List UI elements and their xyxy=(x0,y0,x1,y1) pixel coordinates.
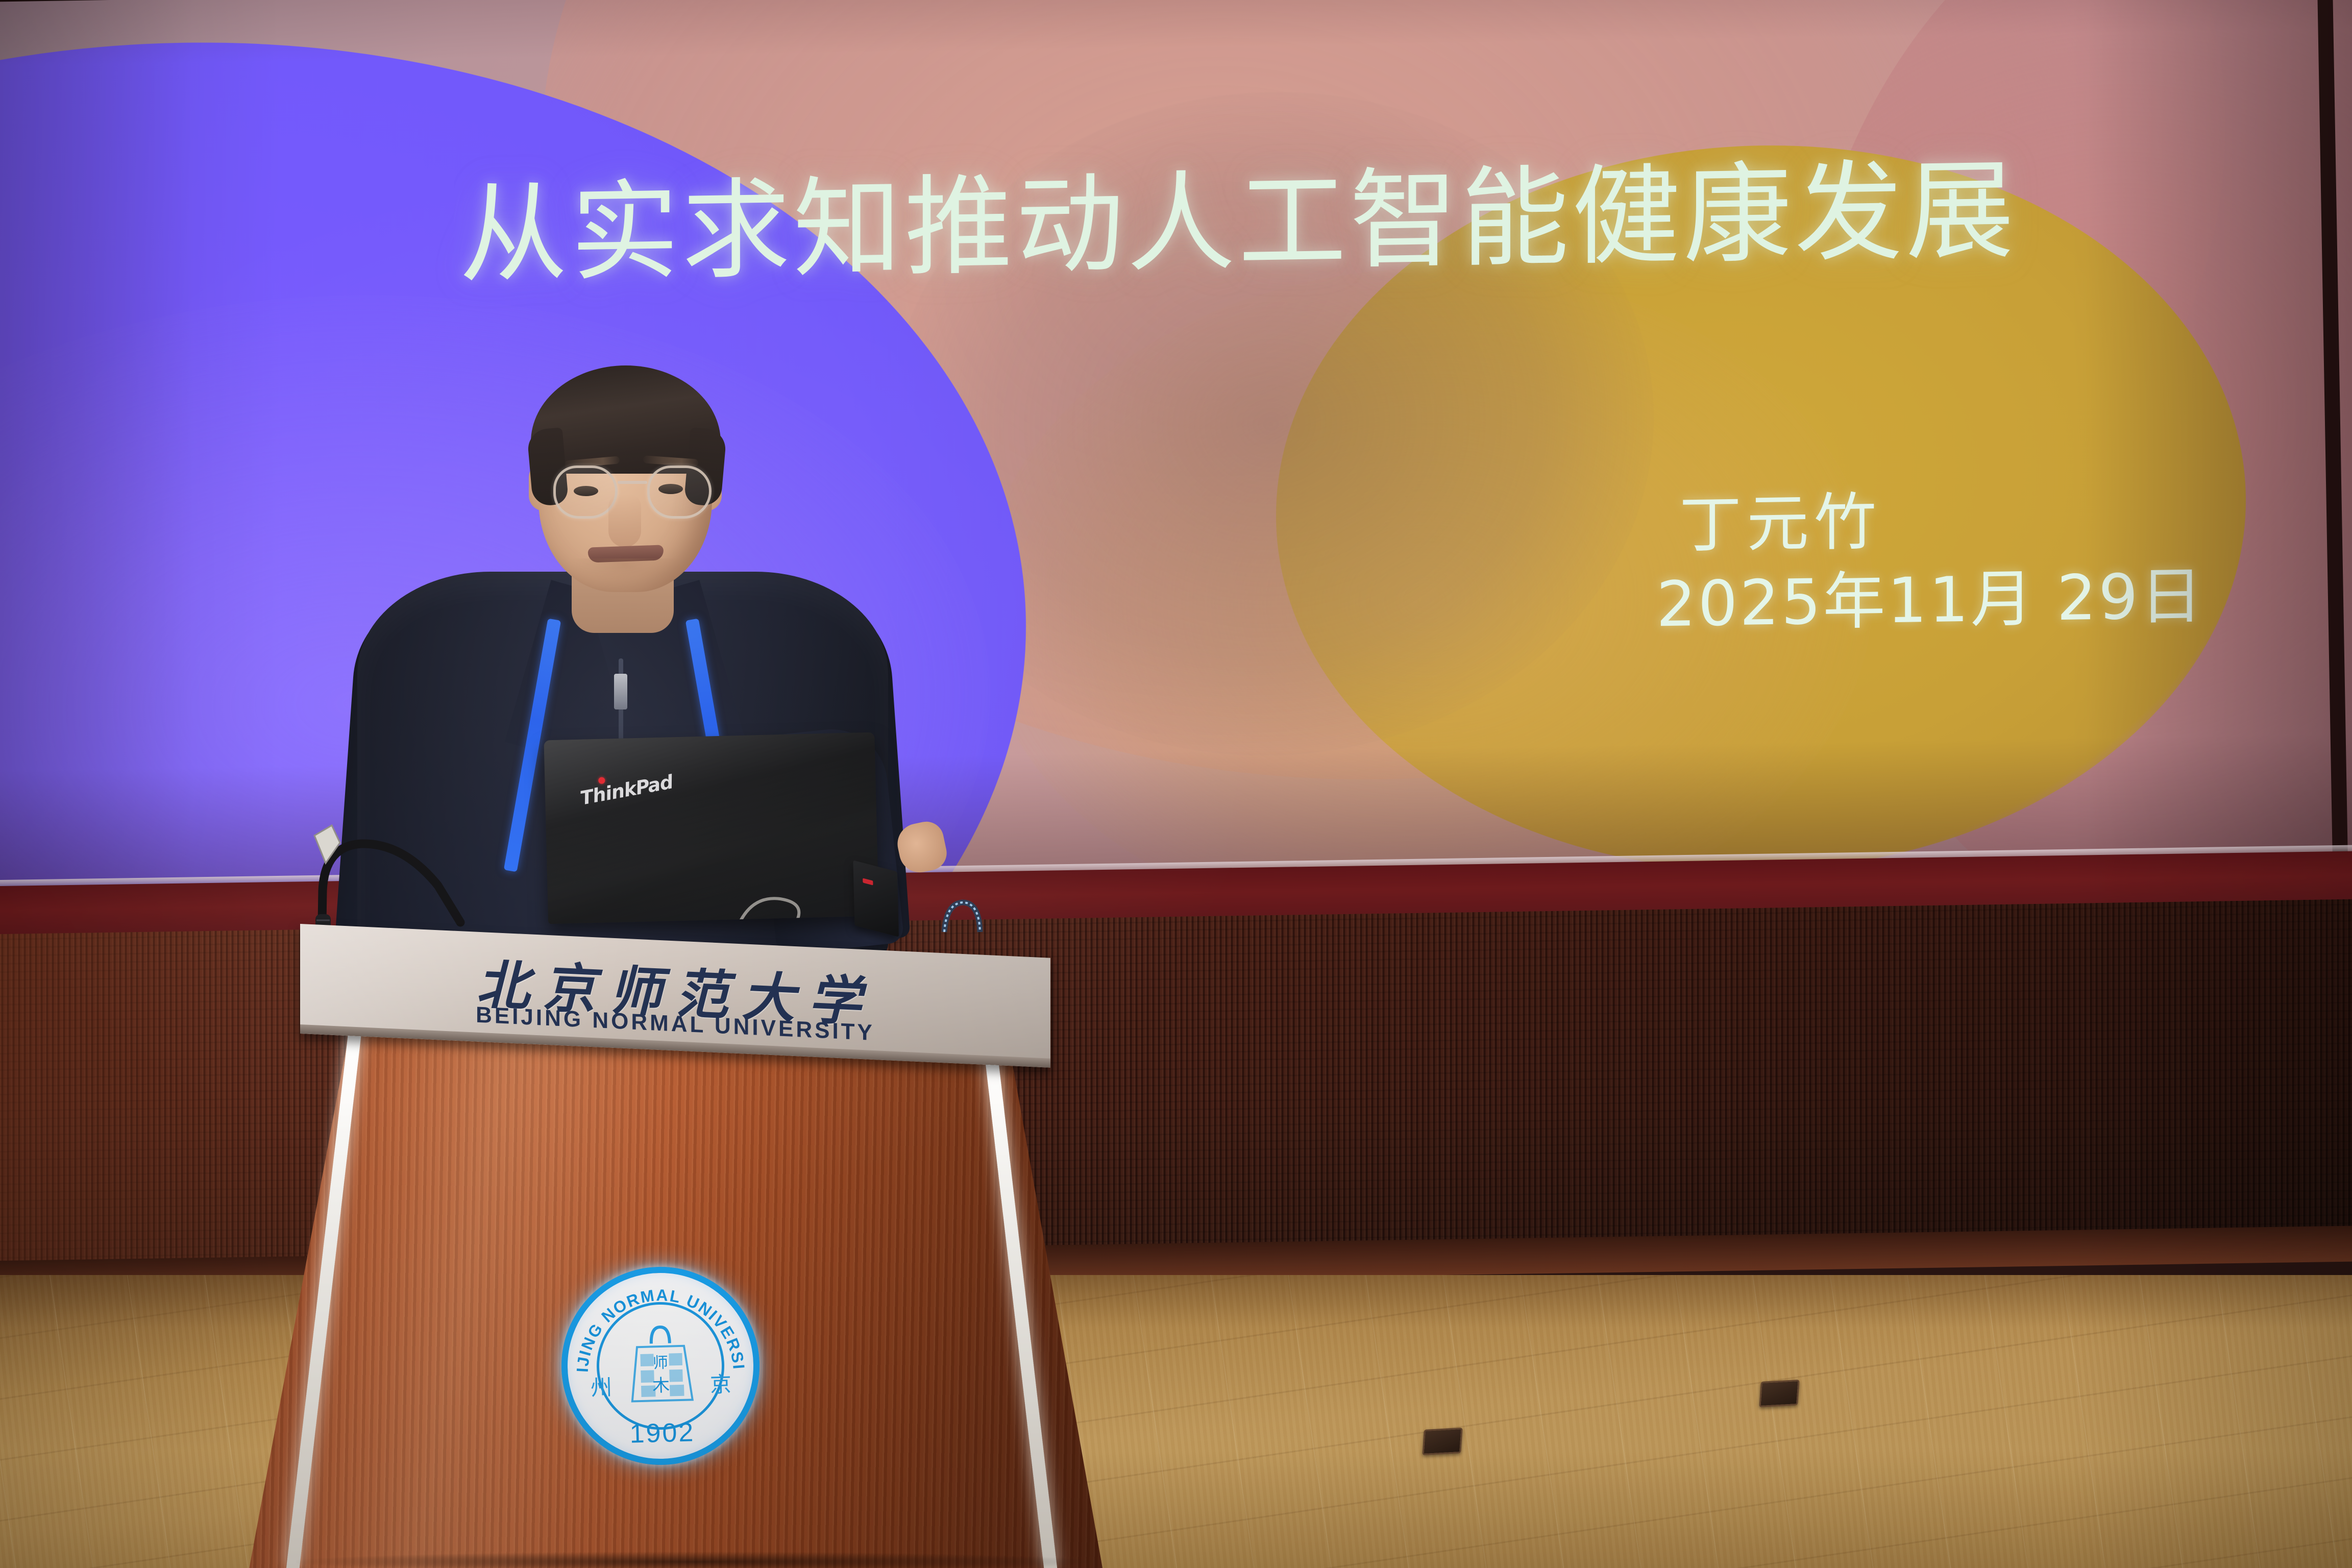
seal-year: 1902 xyxy=(569,1415,755,1451)
lecture-hall-photo: 从实求知推动人工智能健康发展 丁元竹 2025年11月 29日 xyxy=(0,0,2352,1568)
laptop-cable xyxy=(731,877,855,924)
seal-center-char-lower: 木 xyxy=(652,1376,670,1396)
seal-bell-icon: 师 木 xyxy=(621,1319,700,1418)
floor-outlet-box xyxy=(1759,1380,1799,1407)
chin-shadow xyxy=(572,558,679,589)
university-seal: BEIJING NORMAL UNIVERSITY 师 木 州 京 1902 xyxy=(559,1264,762,1467)
nose xyxy=(608,494,641,547)
lens-right xyxy=(647,465,712,519)
podium: BEIJING NORMAL UNIVERSITY 师 木 州 京 1902 xyxy=(245,924,1102,1568)
glasses-bridge xyxy=(618,481,647,484)
seal-char-right: 京 xyxy=(709,1367,732,1399)
floor-outlet-box xyxy=(1422,1428,1462,1455)
seal-center-char: 师 xyxy=(652,1354,668,1373)
seal-char-left: 州 xyxy=(590,1370,612,1402)
zipper-pull xyxy=(614,674,627,709)
podium-floor-shadow xyxy=(296,1552,1092,1568)
laptop-lid: ThinkPad xyxy=(544,732,879,924)
laptop: ThinkPad xyxy=(544,732,895,937)
